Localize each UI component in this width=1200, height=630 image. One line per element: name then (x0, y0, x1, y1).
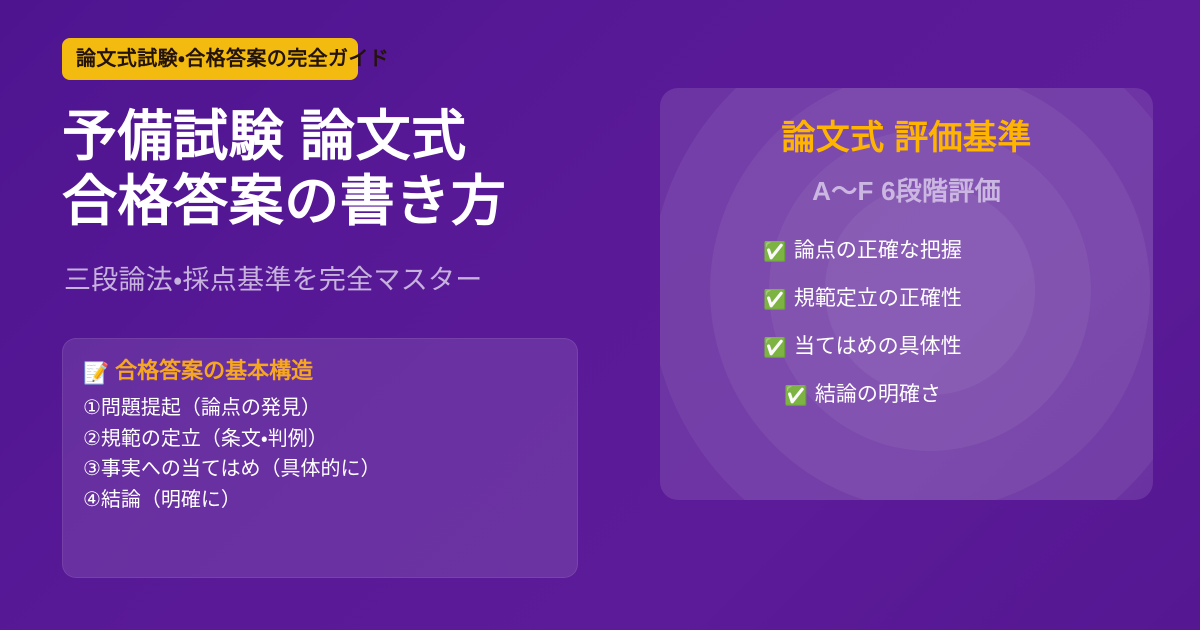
list-item: ✅結論の明確さ (616, 384, 1109, 406)
page-title: 予備試験 論文式 合格答案の書き方 (62, 104, 662, 234)
list-item: ✅規範定立の正確性 (616, 288, 1109, 310)
evaluation-criteria-title: 論文式 評価基準 (660, 118, 1153, 159)
check-mark-icon: ✅ (763, 290, 787, 311)
check-mark-icon: ✅ (763, 338, 787, 359)
answer-structure-card-title-label: 合格答案の基本構造 (115, 358, 313, 383)
check-mark-icon: ✅ (784, 386, 808, 407)
list-item: ①問題提起（論点の発見） (83, 393, 557, 423)
list-item-label: 論点の正確な把握 (794, 239, 962, 262)
list-item: ③事実への当てはめ（具体的に） (83, 454, 557, 484)
answer-structure-card: 📝合格答案の基本構造 ①問題提起（論点の発見） ②規範の定立（条文・判例） ③事… (62, 338, 578, 578)
eyebrow-badge-label: 論文式試験・合格答案の完全ガイド (76, 49, 389, 69)
list-item: ✅当てはめの具体性 (616, 336, 1109, 358)
list-item-label: 規範定立の正確性 (794, 287, 962, 310)
list-item-label: 結論の明確さ (815, 383, 941, 406)
list-item: ②規範の定立（条文・判例） (83, 424, 557, 454)
list-item-label: 当てはめの具体性 (794, 335, 962, 358)
answer-structure-card-title: 📝合格答案の基本構造 (83, 355, 557, 389)
evaluation-criteria-list: ✅論点の正確な把握 ✅規範定立の正確性 ✅当てはめの具体性 ✅結論の明確さ (616, 240, 1109, 406)
left-column: 論文式試験・合格答案の完全ガイド 予備試験 論文式 合格答案の書き方 三段論法・… (62, 0, 622, 630)
eyebrow-badge: 論文式試験・合格答案の完全ガイド (62, 38, 358, 80)
answer-structure-list: ①問題提起（論点の発見） ②規範の定立（条文・判例） ③事実への当てはめ（具体的… (83, 393, 557, 515)
check-mark-icon: ✅ (763, 242, 787, 263)
list-item: ✅論点の正確な把握 (616, 240, 1109, 262)
page-subtitle: 三段論法・採点基準を完全マスター (64, 263, 483, 298)
list-item: ④結論（明確に） (83, 485, 557, 515)
evaluation-criteria-subtitle: A〜F 6段階評価 (660, 176, 1153, 207)
evaluation-criteria-panel: 論文式 評価基準 A〜F 6段階評価 ✅論点の正確な把握 ✅規範定立の正確性 ✅… (660, 88, 1153, 500)
og-image-canvas: 論文式試験・合格答案の完全ガイド 予備試験 論文式 合格答案の書き方 三段論法・… (0, 0, 1200, 630)
memo-icon: 📝 (83, 362, 109, 385)
